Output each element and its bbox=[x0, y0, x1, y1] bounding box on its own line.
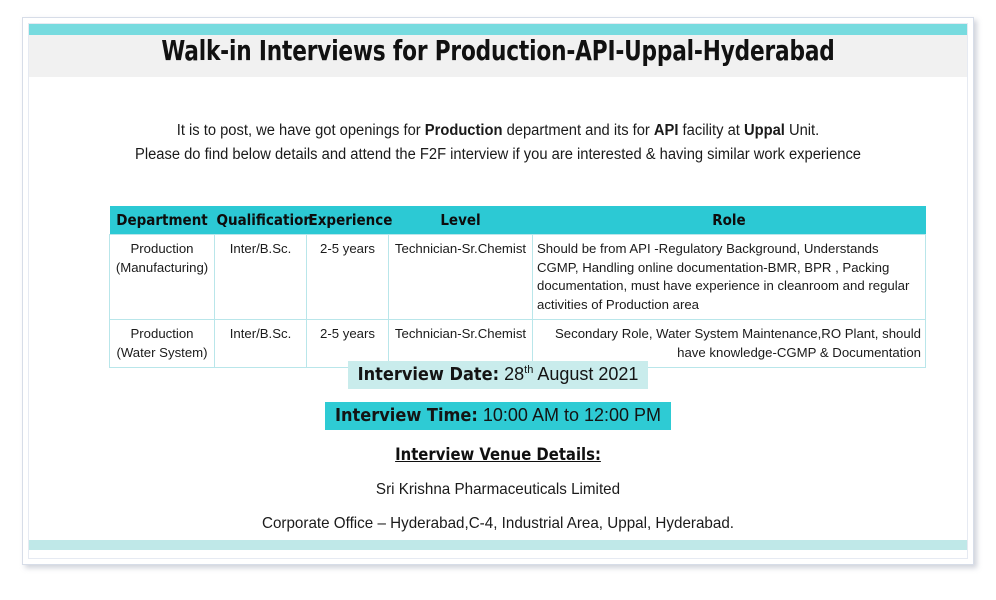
cell-level: Technician-Sr.Chemist bbox=[389, 235, 533, 320]
cell-department: Production (Manufacturing) bbox=[110, 235, 215, 320]
intro-line-1: It is to post, we have got openings for … bbox=[177, 122, 819, 139]
column-header-experience: Experience bbox=[307, 206, 389, 235]
intro-emphasis-uppal: Uppal bbox=[744, 122, 785, 139]
interview-date-value: 28th August 2021 bbox=[499, 364, 638, 384]
column-header-role: Role bbox=[533, 206, 926, 235]
bottom-accent-rule bbox=[29, 540, 967, 550]
intro-paragraph: It is to post, we have got openings for … bbox=[52, 119, 943, 167]
table-body: Production (Manufacturing) Inter/B.Sc. 2… bbox=[110, 235, 926, 368]
intro-line-2: Please do find below details and attend … bbox=[52, 143, 943, 167]
interview-time-line: Interview Time: 10:00 AM to 12:00 PM bbox=[29, 402, 967, 430]
interview-time-text: 10:00 AM to 12:00 PM bbox=[483, 405, 661, 425]
interview-date-rest: August 2021 bbox=[533, 364, 638, 384]
intro-emphasis-production: Production bbox=[425, 122, 503, 139]
intro-text-4: Unit. bbox=[785, 122, 819, 139]
document-frame: Walk-in Interviews for Production-API-Up… bbox=[22, 17, 974, 565]
venue-heading: Interview Venue Details: bbox=[29, 445, 967, 464]
table-header: Department Qualification Experience Leve… bbox=[110, 206, 926, 235]
interview-date-label: Interview Date: bbox=[358, 364, 500, 385]
cell-qualification: Inter/B.Sc. bbox=[215, 235, 307, 320]
interview-date-day: 28 bbox=[504, 364, 524, 384]
interview-date-ordinal: th bbox=[524, 364, 533, 376]
job-openings-table: Department Qualification Experience Leve… bbox=[109, 206, 926, 368]
venue-address: Corporate Office – Hyderabad,C-4, Indust… bbox=[52, 515, 943, 533]
interview-time-value: 10:00 AM to 12:00 PM bbox=[478, 405, 661, 425]
intro-text-2: department and its for bbox=[502, 122, 653, 139]
table-row: Production (Manufacturing) Inter/B.Sc. 2… bbox=[110, 235, 926, 320]
interview-date-line: Interview Date: 28th August 2021 bbox=[29, 361, 967, 389]
table-header-row: Department Qualification Experience Leve… bbox=[110, 206, 926, 235]
column-header-qualification: Qualification bbox=[215, 206, 307, 235]
intro-emphasis-api: API bbox=[654, 122, 679, 139]
cell-experience: 2-5 years bbox=[307, 235, 389, 320]
page-title: Walk-in Interviews for Production-API-Up… bbox=[95, 34, 902, 67]
column-header-department: Department bbox=[110, 206, 215, 235]
column-header-level: Level bbox=[389, 206, 533, 235]
intro-text-1: It is to post, we have got openings for bbox=[177, 122, 425, 139]
venue-company-name: Sri Krishna Pharmaceuticals Limited bbox=[52, 481, 943, 499]
interview-date-badge: Interview Date: 28th August 2021 bbox=[348, 361, 649, 389]
document-page: Walk-in Interviews for Production-API-Up… bbox=[28, 23, 968, 559]
cell-role: Should be from API -Regulatory Backgroun… bbox=[533, 235, 926, 320]
interview-time-badge: Interview Time: 10:00 AM to 12:00 PM bbox=[325, 402, 671, 430]
intro-text-3: facility at bbox=[678, 122, 743, 139]
interview-time-label: Interview Time: bbox=[335, 405, 478, 426]
